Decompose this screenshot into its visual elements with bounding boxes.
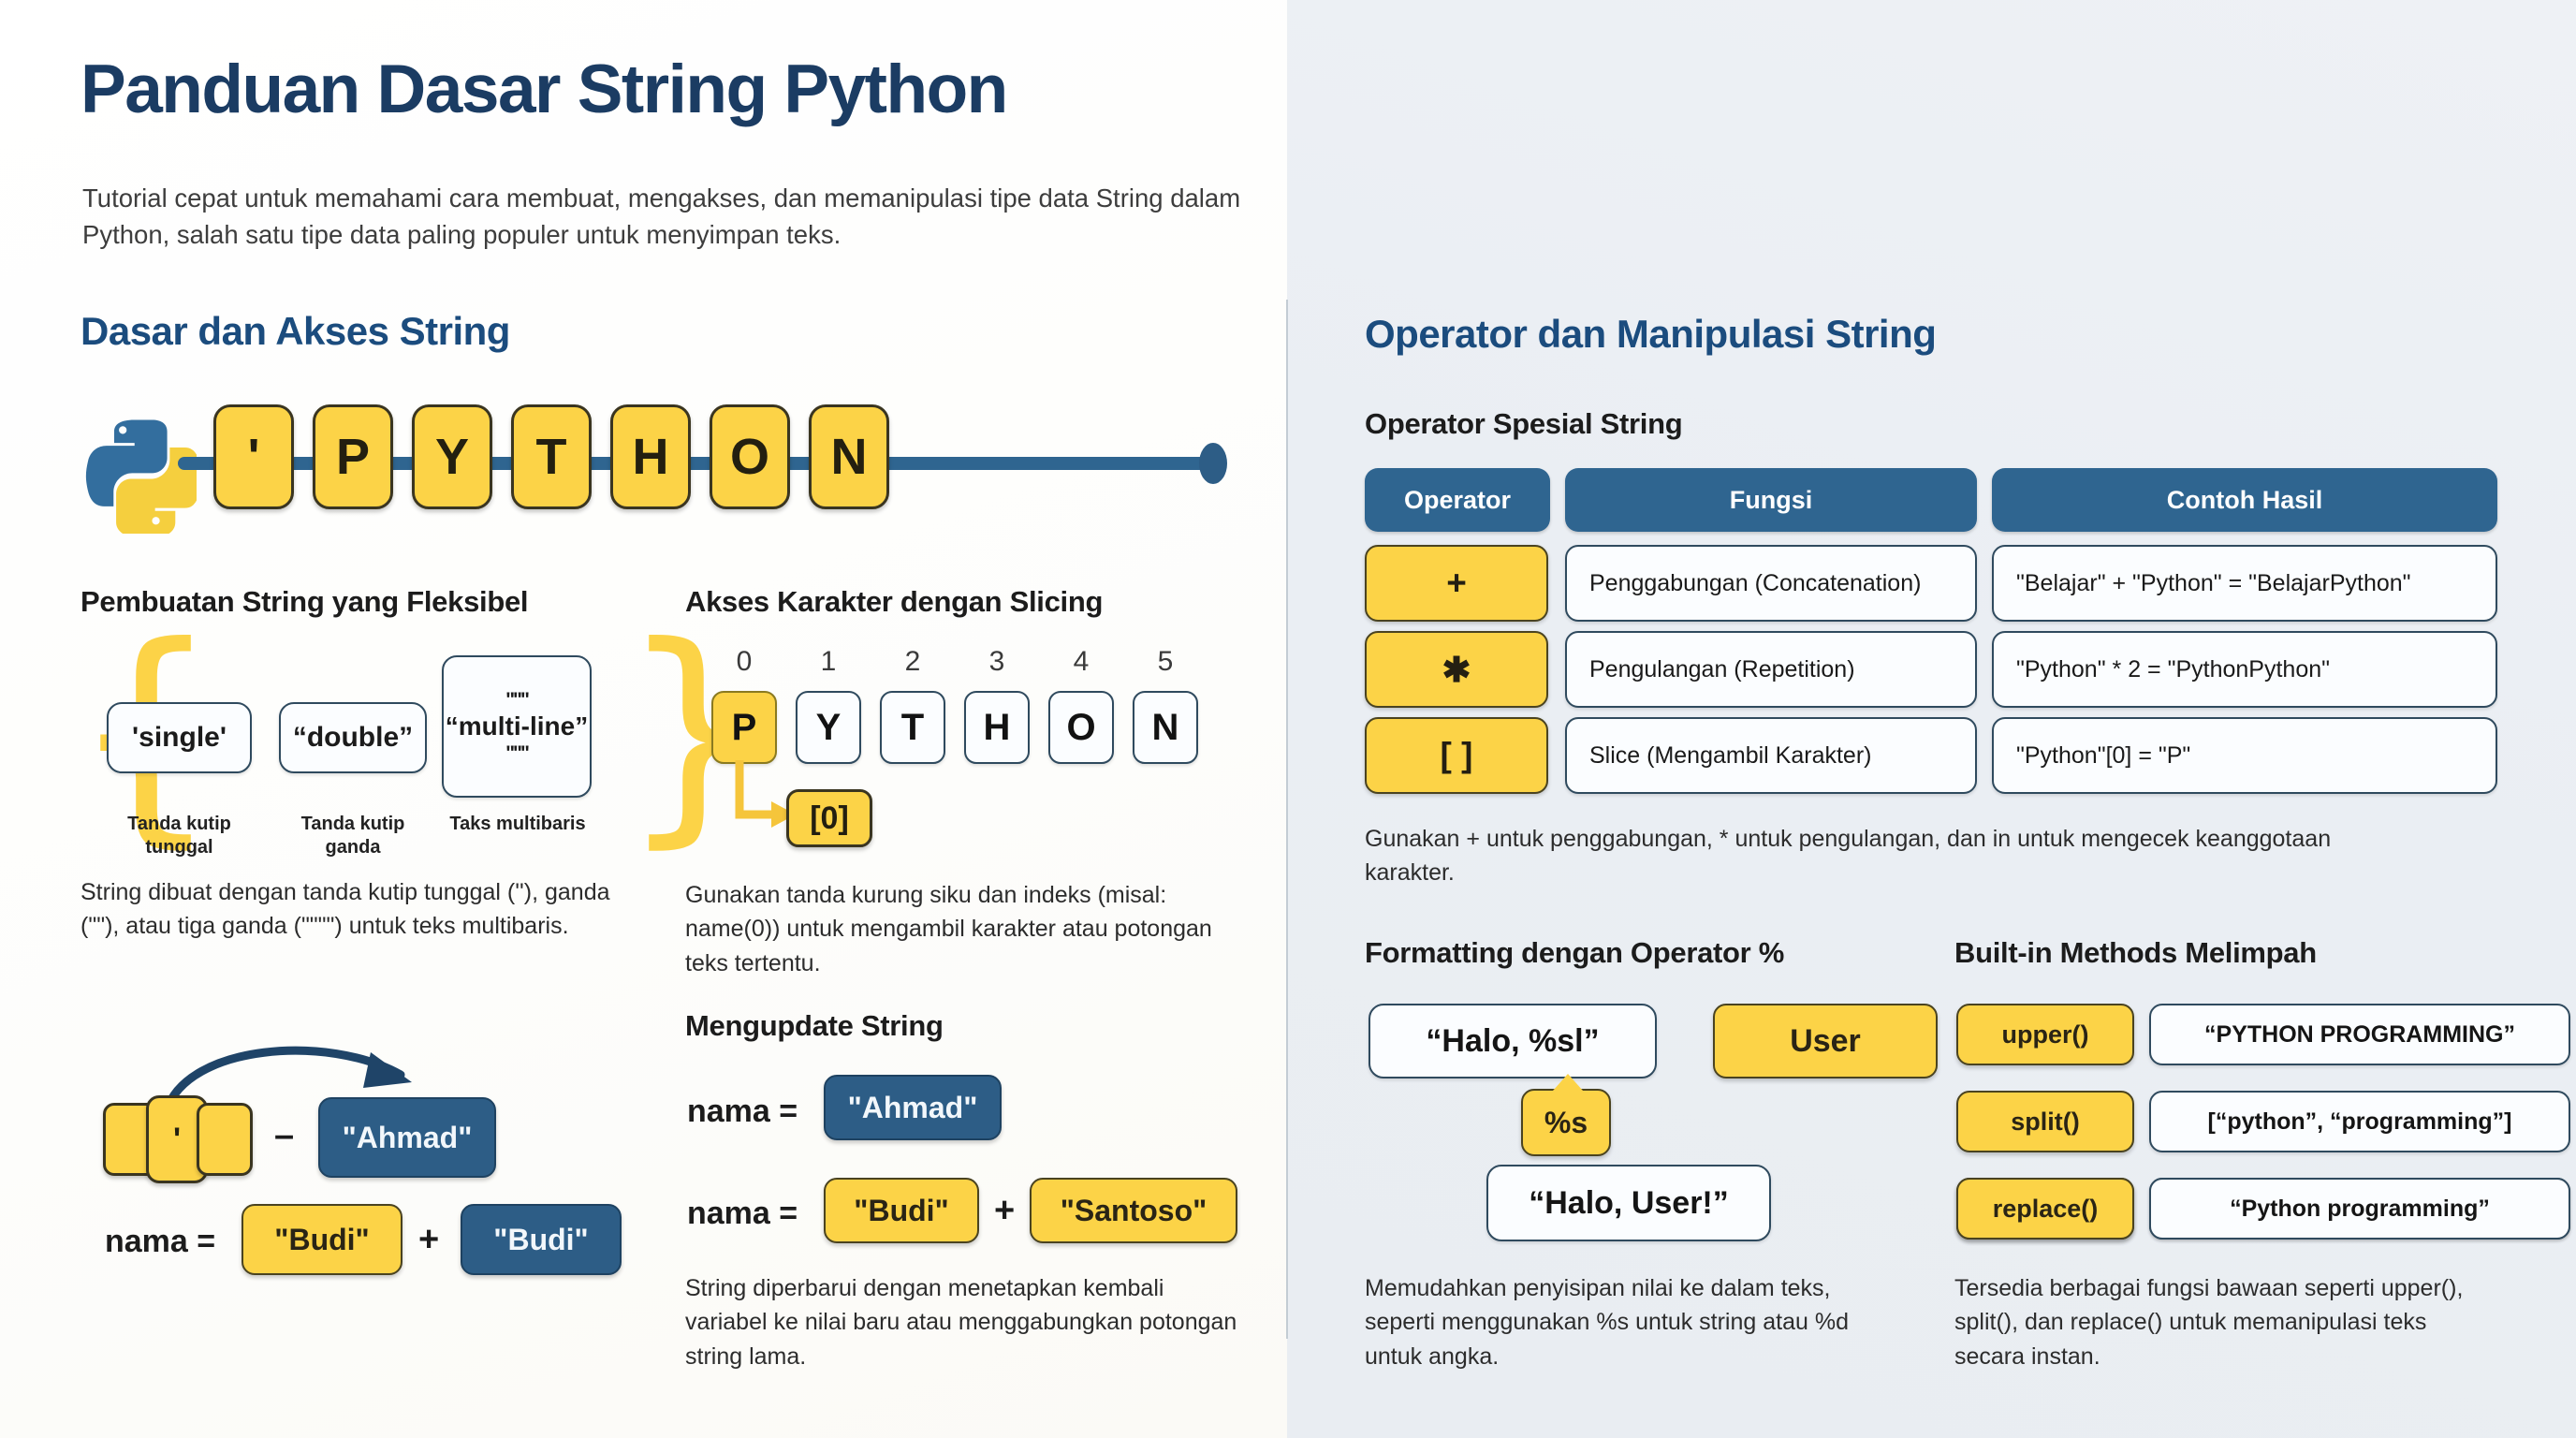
update-row2-variable: nama = [687, 1196, 798, 1232]
update-row1-variable: nama = [687, 1093, 798, 1130]
quote-box-multiline-value: “multi-line” [446, 713, 588, 740]
slice-char-tile: Y [796, 691, 861, 764]
method-chip-upper: upper() [1956, 1004, 2134, 1065]
strip-tile: Y [412, 404, 492, 509]
table-cell-operator: [ ] [1365, 717, 1548, 794]
method-chip-split: split() [1956, 1091, 2134, 1152]
update-row1-value: "Ahmad" [824, 1075, 1002, 1140]
creation-description: String dibuat dengan tanda kutip tunggal… [80, 875, 642, 944]
update-row2-right: "Santoso" [1030, 1178, 1237, 1243]
method-result-upper: “PYTHON PROGRAMMING” [2149, 1004, 2570, 1065]
slice-index: 1 [796, 646, 861, 678]
table-cell-contoh: "Belajar" + "Python" = "BelajarPython" [1992, 545, 2497, 622]
quote-label-double: Tanda kutipganda [270, 813, 436, 859]
right-section-title: Operator dan Manipulasi String [1365, 312, 1936, 357]
table-cell-fungsi: Slice (Mengambil Karakter) [1565, 717, 1977, 794]
format-result-box: “Halo, User!” [1486, 1165, 1771, 1241]
reassign-plus: + [418, 1220, 439, 1260]
reassign-new-value: "Budi" [241, 1204, 402, 1275]
triple-quote-close: """ [505, 743, 528, 763]
method-result-split: [“python”, “programming”] [2149, 1091, 2570, 1152]
table-cell-operator: + [1365, 545, 1548, 622]
strip-tile: N [809, 404, 889, 509]
quote-box-single: 'single' [107, 702, 252, 773]
update-row2-operator: + [994, 1191, 1015, 1231]
table-cell-operator: ✱ [1365, 631, 1548, 708]
quote-box-multiline: """ “multi-line” """ [442, 655, 592, 798]
table-cell-fungsi: Penggabungan (Concatenation) [1565, 545, 1977, 622]
slice-index: 3 [964, 646, 1030, 678]
slice-index: 2 [880, 646, 945, 678]
slice-index: 0 [711, 646, 777, 678]
slice-index-chip: [0] [786, 789, 872, 847]
table-header-contoh: Contoh Hasil [1992, 468, 2497, 532]
slice-index: 4 [1048, 646, 1114, 678]
formatting-title: Formatting dengan Operator % [1365, 936, 1784, 970]
method-result-replace: “Python programming” [2149, 1178, 2570, 1240]
formatting-description: Memudahkan penyisipan nilai ke dalam tek… [1365, 1271, 1889, 1373]
panel-divider [1286, 300, 1288, 1339]
methods-description: Tersedia berbagai fungsi bawaan seperti … [1954, 1271, 2479, 1373]
reassign-old-value: "Ahmad" [318, 1097, 496, 1178]
format-template-box: “Halo, %sl” [1368, 1004, 1657, 1078]
table-cell-contoh: "Python"[0] = "P" [1992, 717, 2497, 794]
python-logo-icon [73, 410, 197, 534]
operators-description: Gunakan + untuk penggabungan, * untuk pe… [1365, 822, 2385, 890]
method-chip-replace: replace() [1956, 1178, 2134, 1240]
table-header-operator: Operator [1365, 468, 1550, 532]
quote-label-multiline: Taks multibaris [434, 813, 601, 836]
update-title: Mengupdate String [685, 1009, 944, 1043]
strip-tile: P [313, 404, 393, 509]
table-cell-contoh: "Python" * 2 = "PythonPython" [1992, 631, 2497, 708]
methods-title: Built-in Methods Melimpah [1954, 936, 2317, 970]
table-header-fungsi: Fungsi [1565, 468, 1977, 532]
reassign-tile-right [197, 1103, 253, 1176]
slice-char-tile: T [880, 691, 945, 764]
slice-char-tile: H [964, 691, 1030, 764]
left-section-title: Dasar dan Akses String [80, 309, 510, 354]
reassign-right-value: "Budi" [461, 1204, 622, 1275]
page-subtitle: Tutorial cepat untuk memahami cara membu… [82, 180, 1262, 253]
strip-tile: ' [213, 404, 294, 509]
quote-box-double: “double” [279, 702, 427, 773]
slicing-description: Gunakan tanda kurung siku dan indeks (mi… [685, 878, 1247, 980]
format-value-chip: User [1713, 1004, 1938, 1078]
python-strip-end-dot [1199, 443, 1227, 484]
page-title: Panduan Dasar String Python [80, 51, 1007, 128]
strip-tile: O [710, 404, 790, 509]
strip-tile: H [610, 404, 691, 509]
quote-label-single: Tanda kutip tunggal [97, 813, 261, 859]
triple-quote-open: """ [505, 690, 528, 710]
slice-char-tile: P [711, 691, 777, 764]
reassign-variable-label: nama = [105, 1224, 215, 1260]
format-callout-%s: %s [1521, 1089, 1611, 1156]
update-row2-left: "Budi" [824, 1178, 979, 1243]
update-description: String diperbarui dengan menetapkan kemb… [685, 1271, 1247, 1373]
operators-title: Operator Spesial String [1365, 407, 1682, 441]
slice-char-tile: O [1048, 691, 1114, 764]
reassign-operator: – [274, 1116, 294, 1156]
table-cell-fungsi: Pengulangan (Repetition) [1565, 631, 1977, 708]
strip-tile: T [511, 404, 592, 509]
slice-char-tile: N [1133, 691, 1198, 764]
slicing-title: Akses Karakter dengan Slicing [685, 585, 1103, 619]
slice-index: 5 [1133, 646, 1198, 678]
